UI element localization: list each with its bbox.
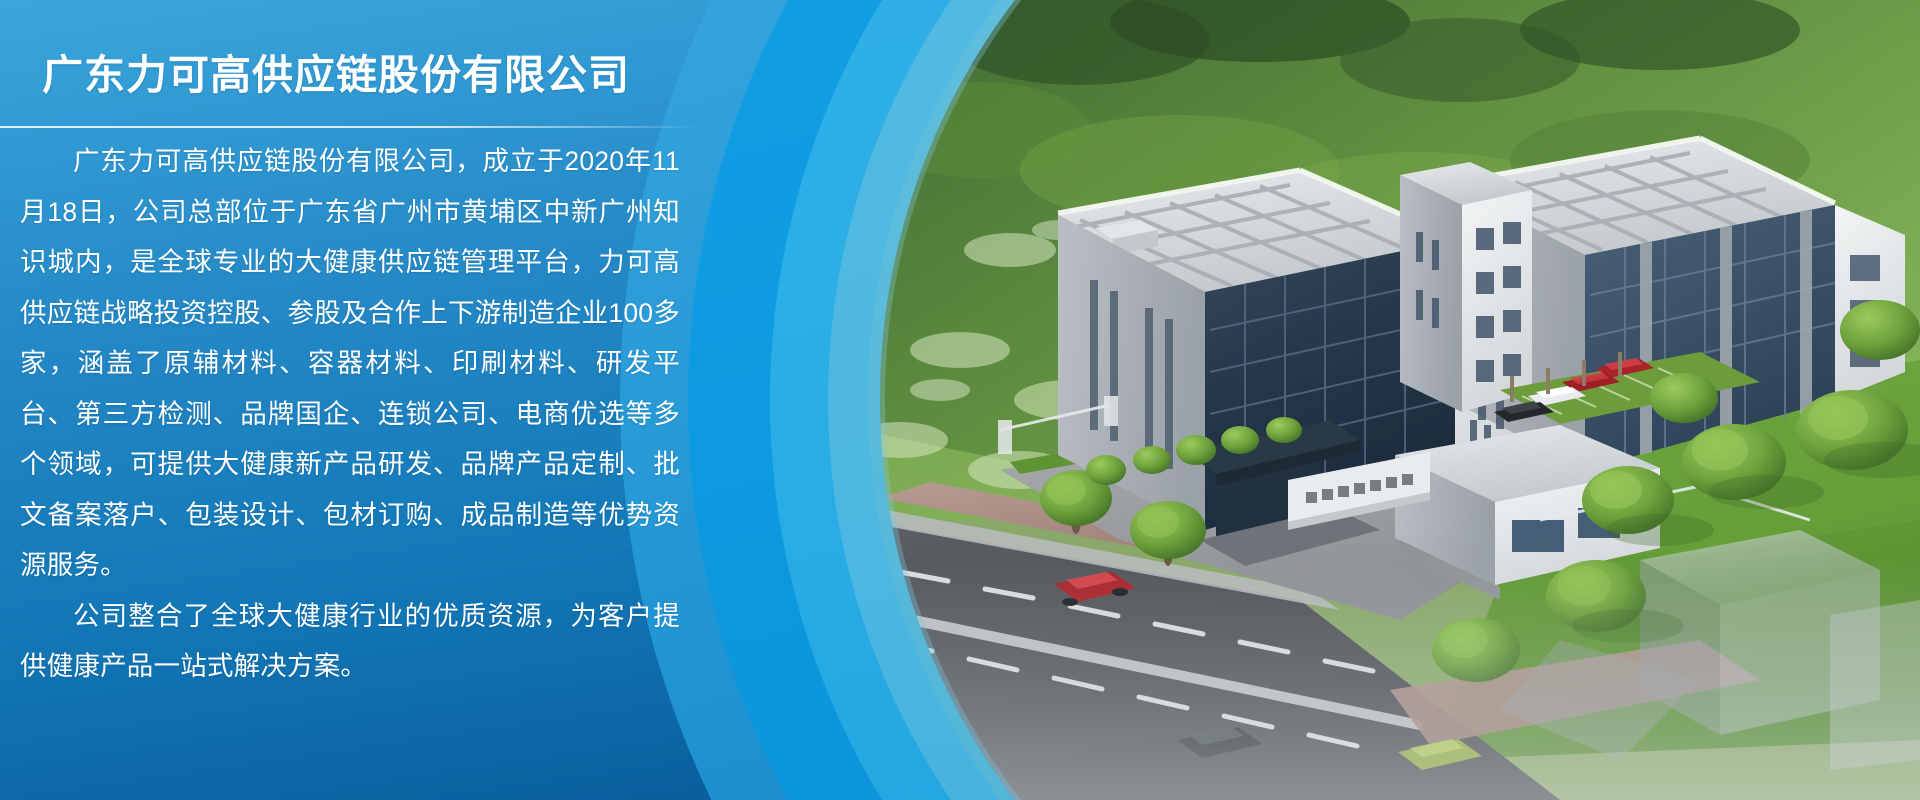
- atmospheric-haze: [860, 560, 1920, 800]
- paragraph-1: 广东力可高供应链股份有限公司，成立于2020年11月18日，公司总部位于广东省广…: [20, 136, 680, 591]
- company-description: 广东力可高供应链股份有限公司，成立于2020年11月18日，公司总部位于广东省广…: [20, 136, 680, 692]
- paragraph-2: 公司整合了全球大健康行业的优质资源，为客户提供健康产品一站式解决方案。: [20, 591, 680, 692]
- title-divider: [0, 126, 700, 128]
- page-title: 广东力可高供应链股份有限公司: [42, 52, 630, 99]
- photo-content: [852, 0, 1920, 800]
- banner-stage: 广东力可高供应链股份有限公司 广东力可高供应链股份有限公司，成立于2020年11…: [0, 0, 1920, 800]
- building-block-c: [1400, 162, 1532, 412]
